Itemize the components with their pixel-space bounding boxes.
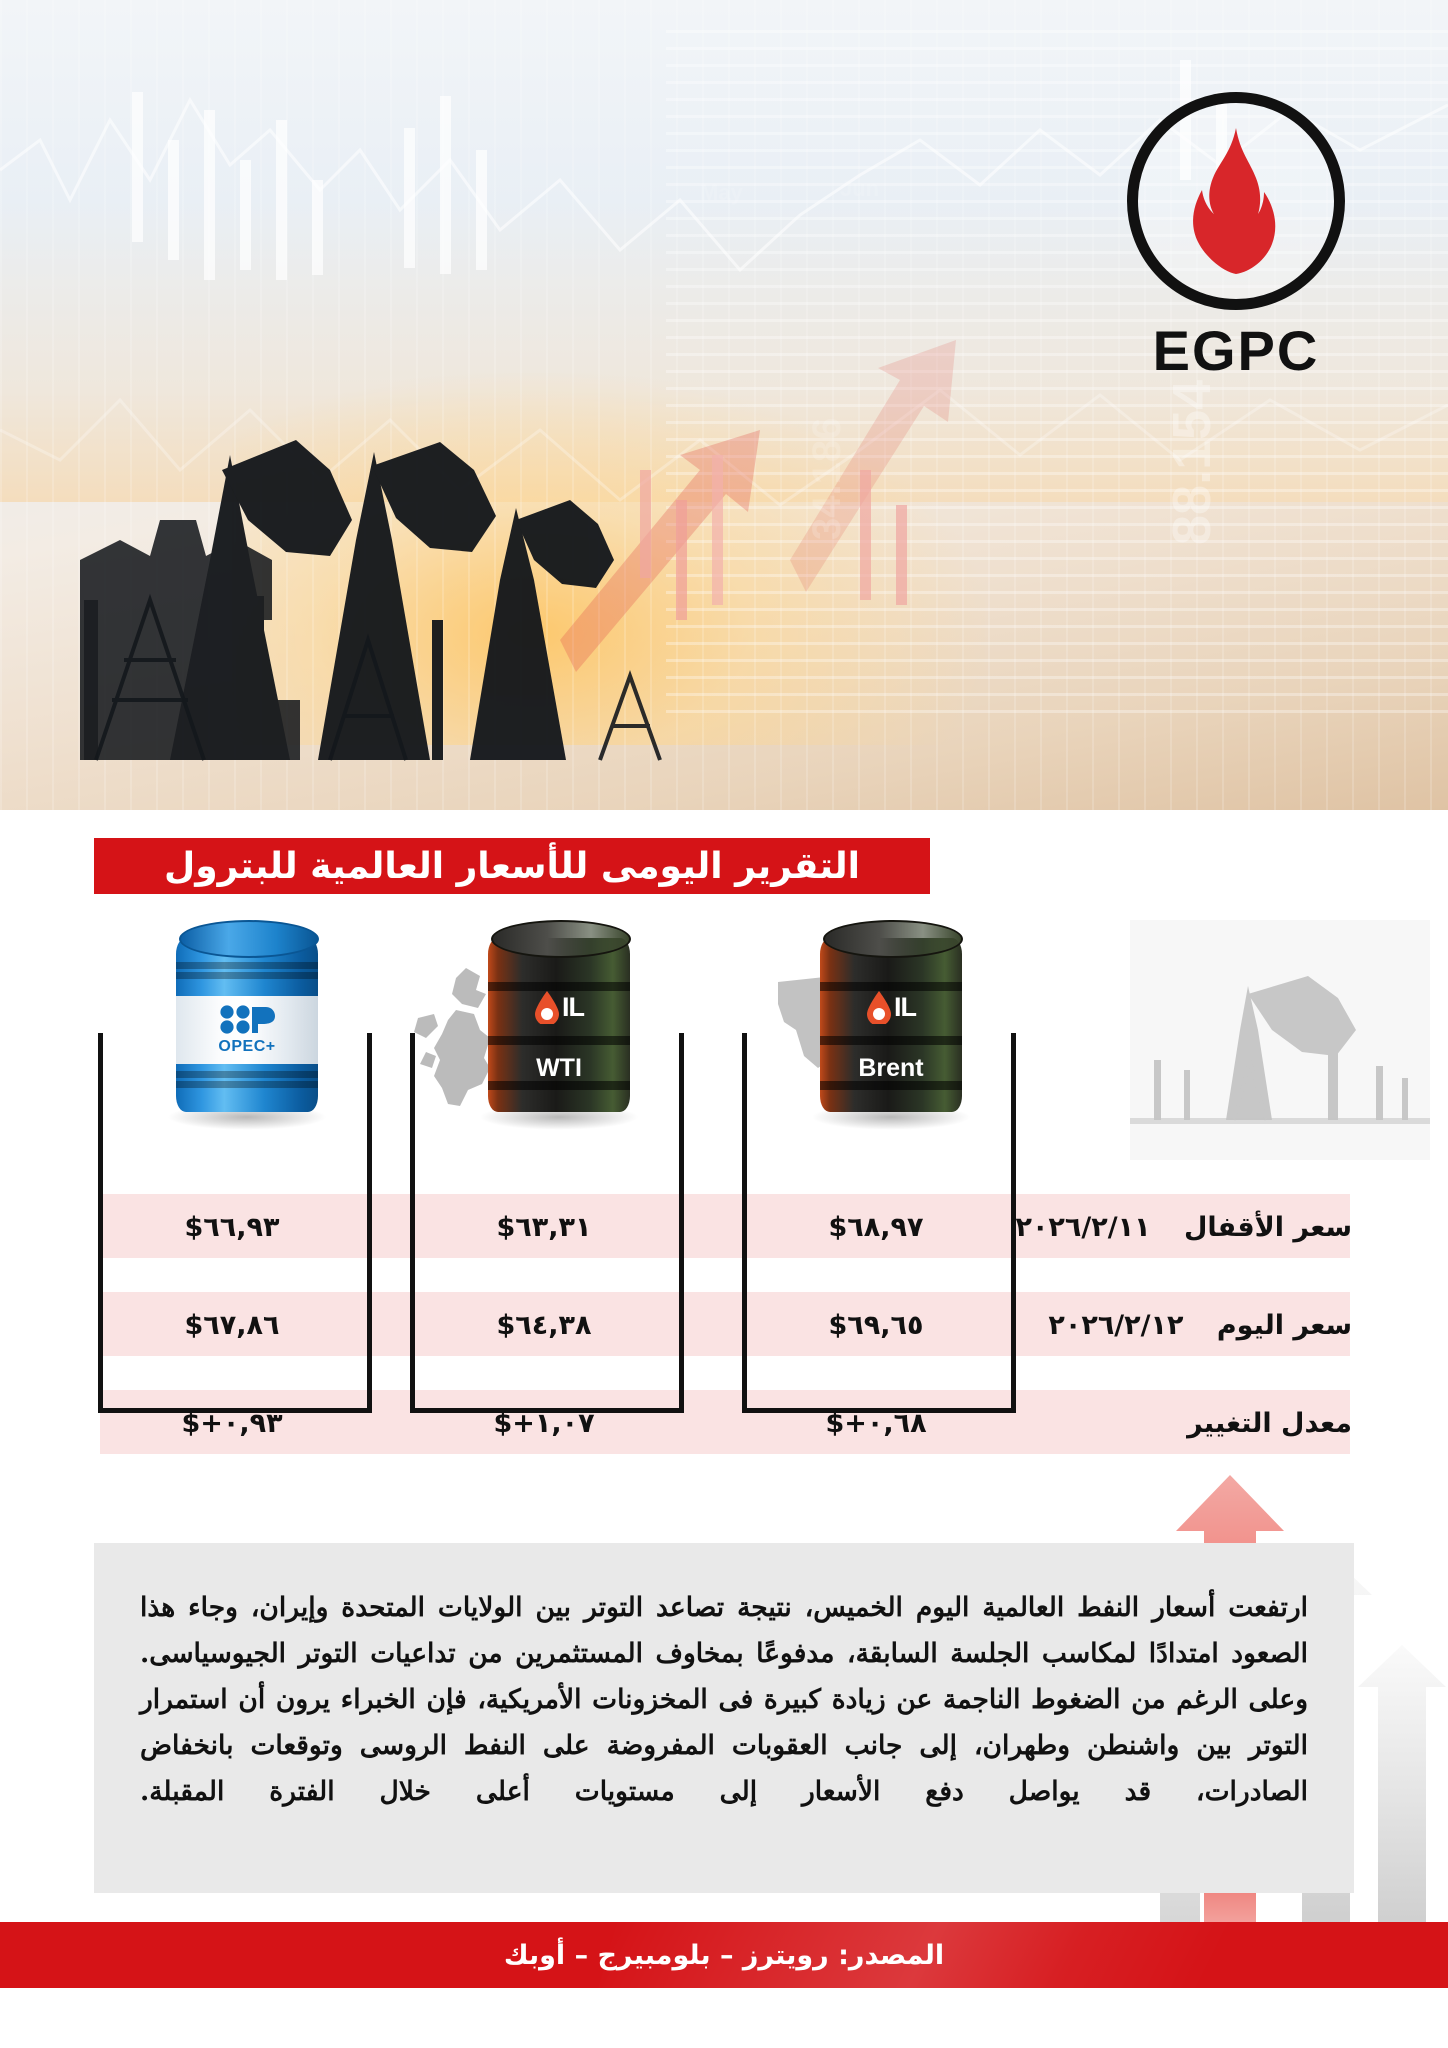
egpc-logo: EGPC [1086,92,1386,383]
row-date-today: ٢٠٢٦/٢/١٢ [1048,1310,1183,1341]
page-title-bar: التقرير اليومى للأسعار العالمية للبترول [94,838,930,894]
row-label-change-text: معدل التغيير [1187,1408,1352,1439]
cell-close-opec: $٦٦,٩٣ [185,1212,280,1243]
cell-change-wti: $+١,٠٧ [493,1408,594,1439]
barrel-body-wti: IL WTI [488,938,630,1112]
barrel-body-opec: OPEC+ [176,938,318,1112]
barrel-lid-opec [179,920,319,958]
row-date-close: ٢٠٢٦/٢/١١ [1015,1212,1150,1243]
barrel-wti: IL WTI [488,920,630,1120]
svg-text:34.186: 34.186 [805,418,849,540]
barrel-brent: IL Brent [820,920,962,1120]
oil-drop-icon [534,990,560,1024]
price-table: OPEC+ IL WTI [0,920,1448,1500]
row-label-change: معدل التغيير [1187,1408,1352,1439]
svg-text:Jun: Jun [840,176,879,201]
report-paragraph: ارتفعت أسعار النفط العالمية اليوم الخميس… [94,1543,1354,1815]
logo-circle [1127,92,1345,310]
barrel-label-wti: WTI [488,1054,630,1083]
cell-change-brent: $+٠,٦٨ [825,1408,926,1439]
opec-logo-icon [218,1005,276,1035]
footer-source: المصدر: رويترز – بلومبيرج – أوبك [504,1940,944,1971]
barrel-label-brent: Brent [820,1054,962,1083]
bottom-white-strip [0,1988,1448,2048]
row-label-today-text: سعر اليوم [1217,1310,1352,1341]
svg-text:88.154: 88.154 [1162,380,1222,545]
cell-change-opec: $+٠,٩٣ [181,1408,282,1439]
cell-today-brent: $٦٩,٦٥ [829,1310,924,1341]
barrel-body-brent: IL Brent [820,938,962,1112]
row-label-close: سعر الأقفال ٢٠٢٦/٢/١١ [1015,1212,1352,1243]
pumpjack-photo [1130,920,1430,1160]
barrel-lid-brent [823,920,963,958]
cell-close-brent: $٦٨,٩٧ [829,1212,924,1243]
barrel-label-opec: OPEC+ [218,1038,275,1056]
barrel-lid-wti [491,920,631,958]
row-label-close-text: سعر الأقفال [1184,1212,1352,1243]
barrel-opec: OPEC+ [176,920,318,1120]
footer-bar: المصدر: رويترز – بلومبيرج – أوبك [0,1922,1448,1988]
oil-drop-icon [866,990,892,1024]
hero-banner: 88.154 34.186 May Jun [0,0,1448,810]
flame-icon [1180,126,1292,276]
report-body: ارتفعت أسعار النفط العالمية اليوم الخميس… [94,1543,1354,1893]
page-title: التقرير اليومى للأسعار العالمية للبترول [164,846,860,887]
svg-text:May: May [700,180,744,205]
logo-text: EGPC [1086,318,1386,383]
cell-today-opec: $٦٧,٨٦ [185,1310,280,1341]
cell-close-wti: $٦٣,٣١ [497,1212,592,1243]
row-label-today: سعر اليوم ٢٠٢٦/٢/١٢ [1048,1310,1352,1341]
cell-today-wti: $٦٤,٣٨ [497,1310,592,1341]
